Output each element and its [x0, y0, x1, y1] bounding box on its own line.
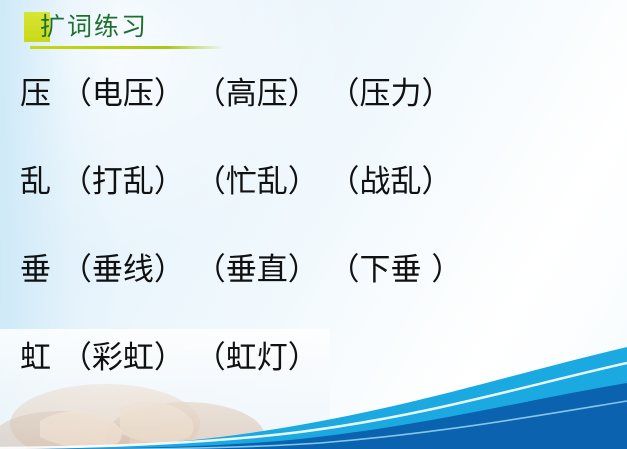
word-line: 垂 （垂线） （垂直） （下垂 ）: [0, 226, 627, 314]
slide-canvas: 扩词练习 压 （电压） （高压） （压力） 乱 （打乱） （忙乱） （战乱） 垂…: [0, 0, 627, 449]
title-underline: [30, 46, 225, 49]
title-block: 扩词练习: [24, 10, 254, 48]
word-line: 虹 （彩虹） （虹灯）: [0, 314, 627, 402]
word-line: 乱 （打乱） （忙乱） （战乱）: [0, 138, 627, 226]
page-title: 扩词练习: [40, 10, 148, 44]
word-line: 压 （电压） （高压） （压力）: [0, 50, 627, 138]
word-expansion-list: 压 （电压） （高压） （压力） 乱 （打乱） （忙乱） （战乱） 垂 （垂线）…: [0, 50, 627, 402]
